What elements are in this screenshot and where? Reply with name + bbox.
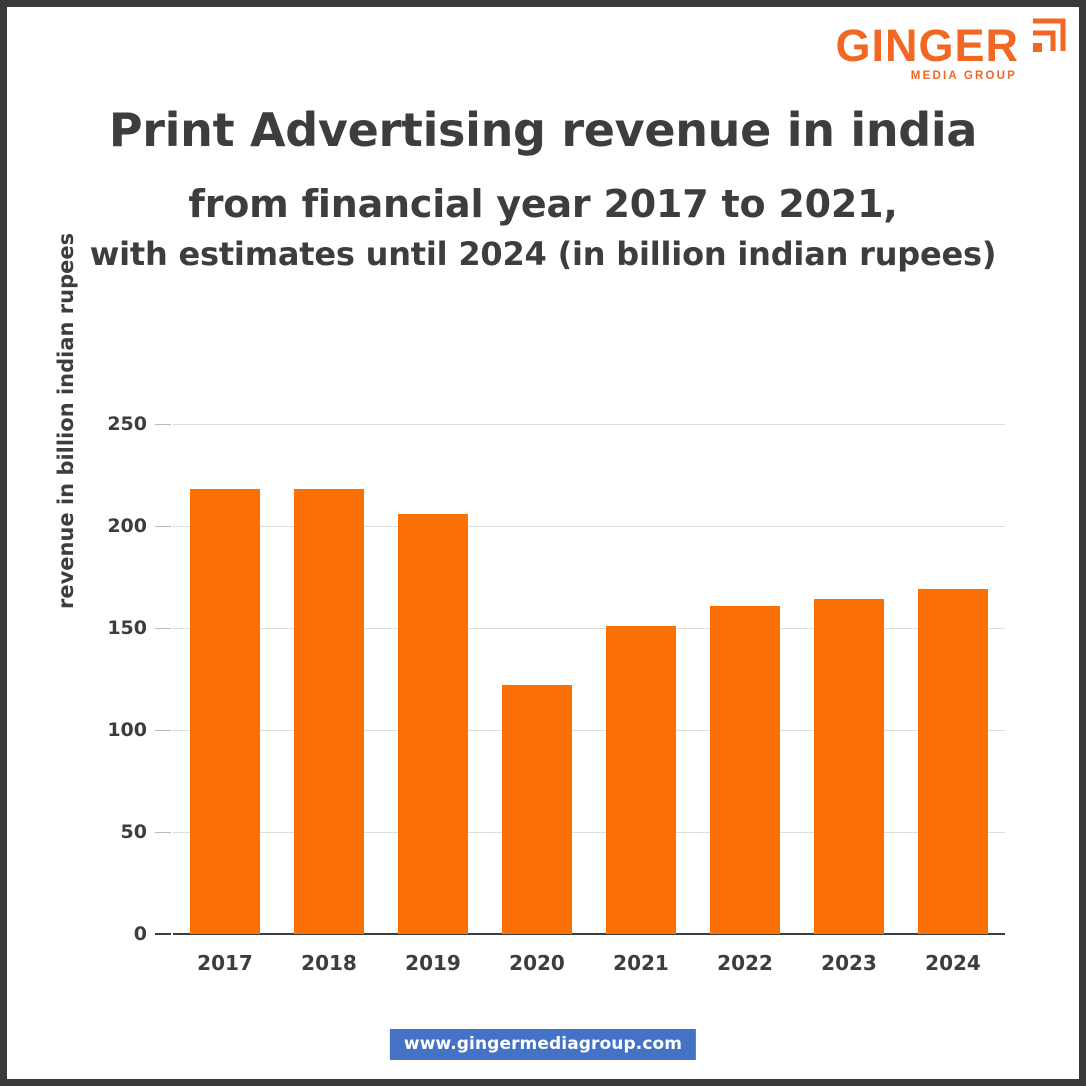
bar-2020[interactable] — [502, 685, 572, 934]
logo-tagline: MEDIA GROUP — [911, 70, 1017, 82]
bar-2017[interactable] — [190, 489, 260, 934]
bar-2021[interactable] — [606, 626, 676, 934]
x-tick-label-2017: 2017 — [197, 951, 253, 975]
x-tick-label-2024: 2024 — [925, 951, 981, 975]
title-line-3: with estimates until 2024 (in billion in… — [7, 236, 1079, 273]
y-tick-label: 100 — [107, 719, 147, 741]
brand-logo[interactable]: GINGER MEDIA GROUP — [835, 15, 1067, 85]
gridline — [173, 424, 1005, 425]
x-tick-label-2019: 2019 — [405, 951, 461, 975]
x-tick-label-2023: 2023 — [821, 951, 877, 975]
y-tick-label: 0 — [134, 923, 147, 945]
ascending-bars-icon — [1021, 17, 1067, 59]
bar-2019[interactable] — [398, 514, 468, 934]
x-tick-label-2020: 2020 — [509, 951, 565, 975]
x-tick-label-2022: 2022 — [717, 951, 773, 975]
y-tick-label: 250 — [107, 413, 147, 435]
bar-chart: revenue in billion indian rupees 0501001… — [7, 402, 1079, 1002]
y-tick-mark — [155, 832, 171, 833]
bar-2023[interactable] — [814, 599, 884, 934]
logo-text-group: GINGER MEDIA GROUP — [835, 15, 1019, 82]
website-url-badge[interactable]: www.gingermediagroup.com — [390, 1029, 696, 1060]
plot-area: 0501001502002502017201820192020202120222… — [173, 424, 1005, 934]
poster-frame: GINGER MEDIA GROUP Print Advertising rev… — [0, 0, 1086, 1086]
bar-2018[interactable] — [294, 489, 364, 934]
bar-2024[interactable] — [918, 589, 988, 934]
y-tick-mark — [155, 526, 171, 527]
y-tick-mark — [155, 933, 171, 935]
x-tick-label-2021: 2021 — [613, 951, 669, 975]
title-line-1: Print Advertising revenue in india — [7, 105, 1079, 157]
poster-canvas: GINGER MEDIA GROUP Print Advertising rev… — [7, 7, 1079, 1079]
y-tick-label: 50 — [121, 821, 147, 843]
y-tick-mark — [155, 424, 171, 425]
y-tick-mark — [155, 730, 171, 731]
y-axis-title: revenue in billion indian rupees — [54, 579, 78, 609]
x-tick-label-2018: 2018 — [301, 951, 357, 975]
bar-2022[interactable] — [710, 606, 780, 934]
y-tick-label: 150 — [107, 617, 147, 639]
page-title: Print Advertising revenue in india from … — [7, 105, 1079, 273]
y-tick-label: 200 — [107, 515, 147, 537]
logo-wordmark: GINGER — [835, 25, 1019, 68]
title-line-2: from financial year 2017 to 2021, — [7, 183, 1079, 227]
y-tick-mark — [155, 628, 171, 629]
